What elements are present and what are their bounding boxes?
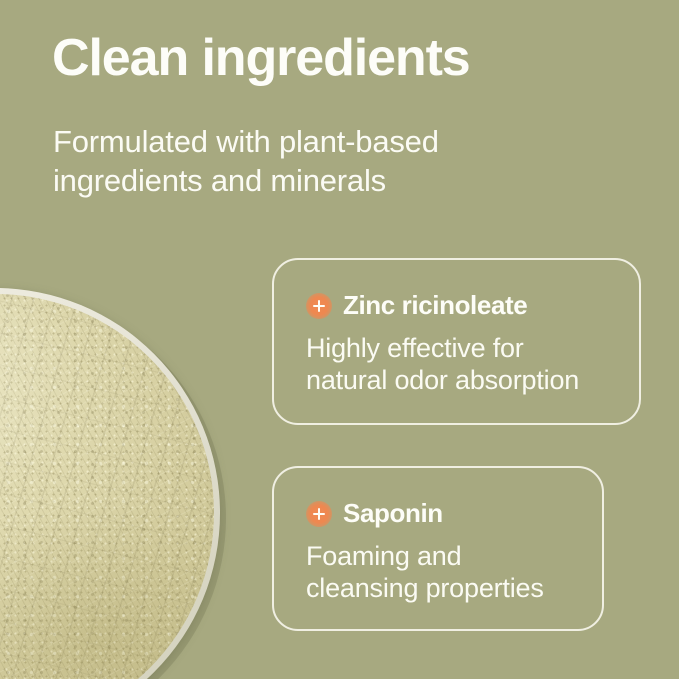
ingredient-description-line-1: Foaming and (306, 540, 544, 572)
ingredient-description: Foaming and cleansing properties (306, 540, 544, 605)
page-title: Clean ingredients (52, 31, 470, 86)
powder-dish-shadow (0, 293, 226, 679)
ingredient-description-line-2: natural odor absorption (306, 364, 579, 396)
ingredient-card-header: Zinc ricinoleate (306, 290, 527, 321)
ingredient-card[interactable]: Saponin Foaming and cleansing properties (272, 466, 604, 631)
ingredient-name: Saponin (343, 498, 443, 529)
page-subtitle: Formulated with plant-based ingredients … (53, 122, 439, 200)
plus-icon (306, 501, 332, 527)
ingredient-description-line-1: Highly effective for (306, 332, 579, 364)
ingredient-description: Highly effective for natural odor absorp… (306, 332, 579, 397)
page-subtitle-line-2: ingredients and minerals (53, 161, 439, 200)
ingredient-card-header: Saponin (306, 498, 443, 529)
powder-dish-image (0, 288, 220, 679)
powder-dish-contents (0, 294, 214, 679)
ingredient-card[interactable]: Zinc ricinoleate Highly effective for na… (272, 258, 641, 425)
ingredient-description-line-2: cleansing properties (306, 572, 544, 604)
powder-dish-rim (0, 288, 220, 679)
product-feature-panel: Clean ingredients Formulated with plant-… (0, 0, 679, 679)
ingredient-name: Zinc ricinoleate (343, 290, 527, 321)
plus-icon (306, 293, 332, 319)
page-subtitle-line-1: Formulated with plant-based (53, 122, 439, 161)
